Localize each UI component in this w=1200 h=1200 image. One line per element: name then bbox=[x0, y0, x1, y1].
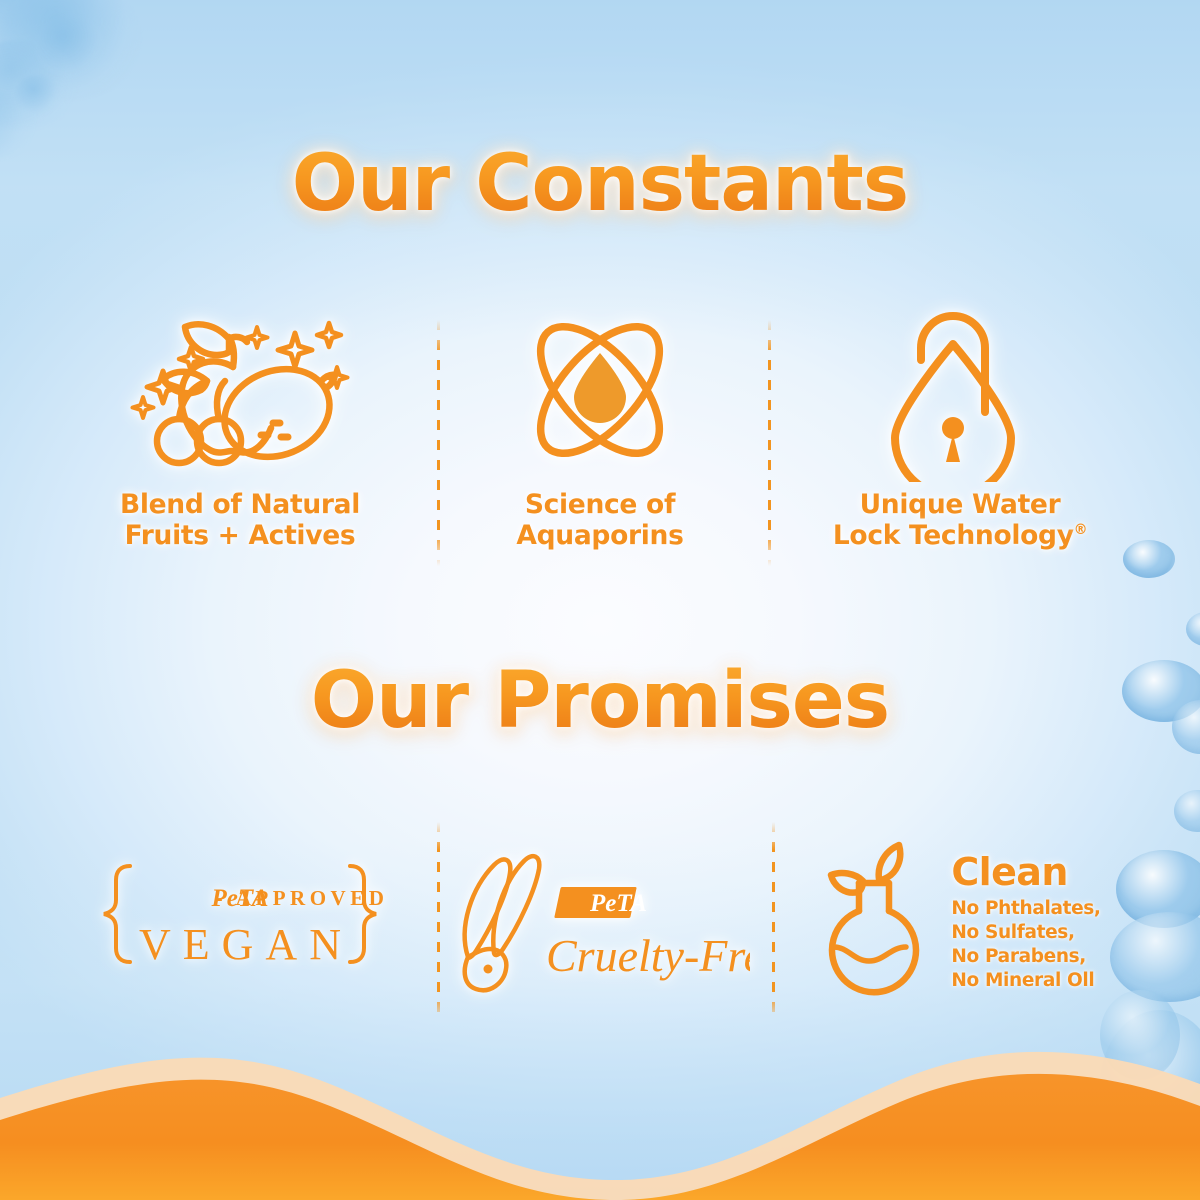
promise-item-clean: Clean No Phthalates, No Sulfates, No Par… bbox=[780, 841, 1140, 1006]
caption-line-1: Unique Water bbox=[860, 489, 1061, 520]
clean-line-4: No Mineral Oll bbox=[951, 969, 1100, 993]
caption-line-2: Lock Technology bbox=[833, 520, 1074, 551]
promise-item-vegan: PeTA - APPROVED VEGAN bbox=[60, 858, 420, 988]
droplet-padlock-icon bbox=[875, 300, 1045, 485]
svg-text:VEGAN: VEGAN bbox=[139, 920, 353, 969]
divider-constants-2 bbox=[768, 320, 771, 566]
constant-item-fruits: Blend of Natural Fruits + Actives bbox=[60, 300, 420, 552]
page-title-promises: Our Promises bbox=[0, 662, 1200, 740]
peta-cruelty-free-bunny-badge: PeTA Cruelty-Free bbox=[420, 853, 780, 993]
page-title-constants: Our Constants bbox=[0, 145, 1200, 223]
bottom-orange-wave bbox=[0, 1040, 1200, 1200]
clean-line-1: No Phthalates, bbox=[951, 897, 1100, 921]
divider-promises-2 bbox=[772, 822, 775, 1022]
caption-line-2: Aquaporins bbox=[516, 520, 683, 551]
constant-caption-aquaporins: Science of Aquaporins bbox=[516, 489, 683, 552]
divider-promises-1 bbox=[437, 822, 440, 1022]
clean-line-2: No Sulfates, bbox=[951, 921, 1100, 945]
promise-item-cruelty-free: PeTA Cruelty-Free bbox=[420, 853, 780, 993]
constant-caption-water-lock: Unique Water Lock Technology® bbox=[833, 489, 1087, 552]
caption-line-1: Science of bbox=[525, 489, 675, 520]
caption-line-2: Fruits + Actives bbox=[125, 520, 356, 551]
clean-text-block: Clean No Phthalates, No Sulfates, No Par… bbox=[951, 853, 1100, 993]
promises-row: PeTA - APPROVED VEGAN bbox=[60, 818, 1140, 1028]
registered-trademark-symbol: ® bbox=[1074, 522, 1087, 538]
divider-constants-1 bbox=[437, 320, 440, 566]
clean-line-3: No Parabens, bbox=[951, 945, 1100, 969]
constant-item-aquaporins: Science of Aquaporins bbox=[420, 300, 780, 552]
peta-approved-vegan-badge: PeTA - APPROVED VEGAN bbox=[60, 858, 420, 988]
constant-item-water-lock: Unique Water Lock Technology® bbox=[780, 300, 1140, 552]
constant-caption-fruits: Blend of Natural Fruits + Actives bbox=[120, 489, 360, 552]
clean-title: Clean bbox=[951, 853, 1100, 891]
clean-flask-icon bbox=[819, 841, 935, 1006]
fruits-sparkle-icon bbox=[125, 300, 355, 485]
svg-text:- APPROVED: - APPROVED bbox=[216, 886, 389, 910]
promo-poster: Our Constants bbox=[0, 0, 1200, 1200]
svg-text:Cruelty-Free: Cruelty-Free bbox=[546, 930, 750, 981]
svg-text:PeTA: PeTA bbox=[589, 890, 647, 917]
constants-row: Blend of Natural Fruits + Actives Scienc… bbox=[60, 300, 1140, 570]
caption-line-1: Blend of Natural bbox=[120, 489, 360, 520]
atom-water-droplet-icon bbox=[510, 300, 690, 485]
clean-group: Clean No Phthalates, No Sulfates, No Par… bbox=[819, 841, 1100, 1006]
